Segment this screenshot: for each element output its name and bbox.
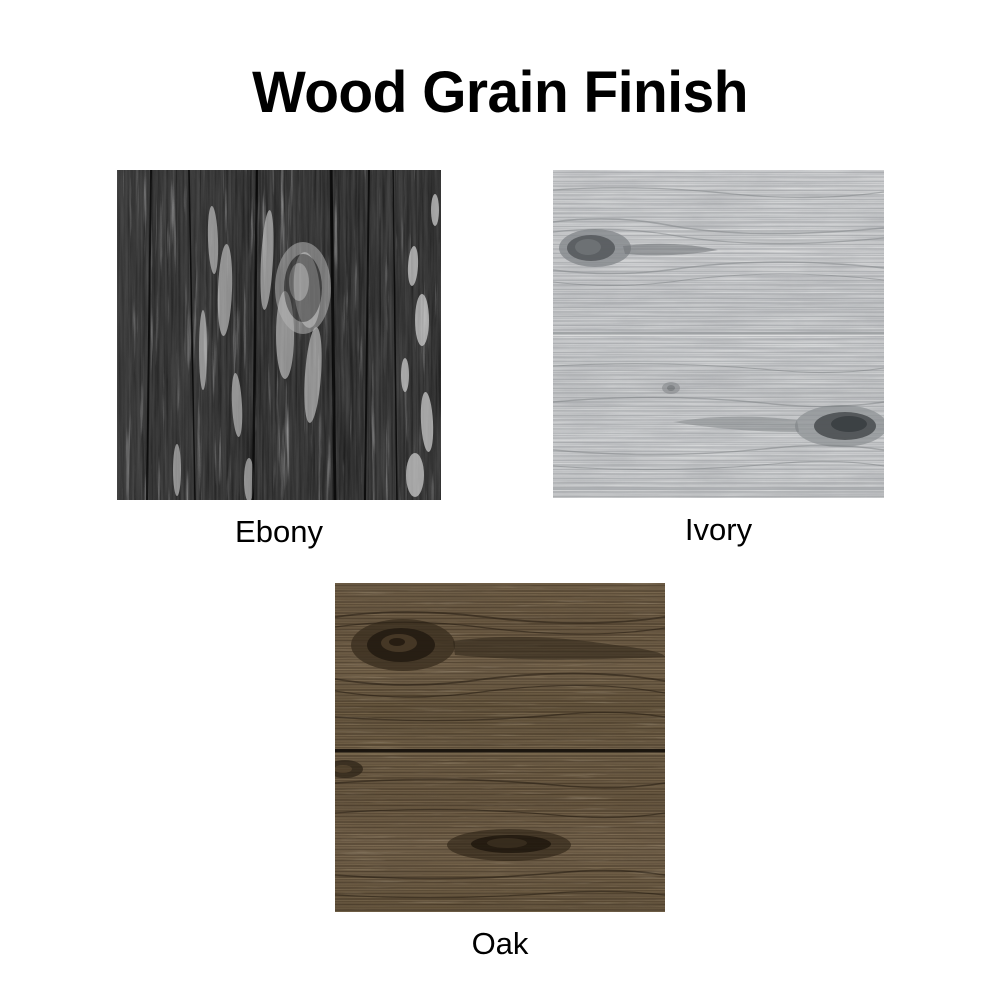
- swatch-label-ebony: Ebony: [57, 514, 501, 550]
- ivory-grain-overlay: [553, 170, 884, 498]
- swatch-image-ivory[interactable]: [553, 170, 884, 498]
- swatch-image-oak[interactable]: [335, 583, 665, 912]
- page-title: Wood Grain Finish: [10, 62, 990, 124]
- ebony-grain-overlay: [117, 170, 441, 500]
- swatch-option-ebony[interactable]: Ebony: [117, 170, 441, 500]
- swatch-option-ivory[interactable]: Ivory: [553, 170, 884, 498]
- knot: [447, 829, 571, 861]
- oak-grain-overlay: [335, 583, 665, 912]
- swatch-option-oak[interactable]: Oak: [335, 583, 665, 912]
- knot: [662, 382, 680, 394]
- swatch-label-ivory: Ivory: [493, 512, 944, 548]
- swatch-label-oak: Oak: [275, 926, 725, 962]
- swatch-image-ebony[interactable]: [117, 170, 441, 500]
- wood-grain-finish-page: Wood Grain Finish: [0, 0, 1000, 1000]
